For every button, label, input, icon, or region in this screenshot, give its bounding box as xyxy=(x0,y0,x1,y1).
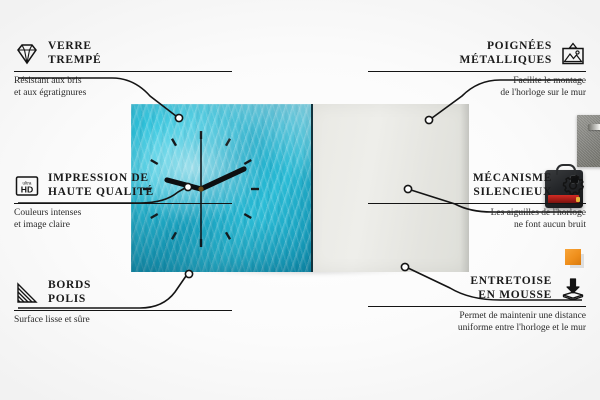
feature-desc-line1: Résistant aux bris xyxy=(14,76,232,88)
feature-desc-line2: de l'horloge sur le mur xyxy=(368,88,586,100)
picture-hanger-icon xyxy=(560,42,586,66)
feature-divider xyxy=(14,310,232,311)
feature-divider xyxy=(14,71,232,72)
feature-desc-line1: Les aiguilles de l'horloge xyxy=(368,208,586,220)
feature-divider xyxy=(368,71,586,72)
feature-header: ultra HD IMPRESSION DE HAUTE QUALITÉ xyxy=(14,172,232,199)
feature-header: ENTRETOISE EN MOUSSE xyxy=(368,275,586,302)
feature-divider xyxy=(368,203,586,204)
feature-header: MÉCANISME SILENCIEUX xyxy=(368,172,586,199)
feature-desc-line1: Couleurs intenses xyxy=(14,208,232,220)
feature-divider xyxy=(368,306,586,307)
wire-endpoint-bords xyxy=(185,270,192,277)
wire-endpoint-entretoise xyxy=(401,263,408,270)
feature-desc-line2: uniforme entre l'horloge et le mur xyxy=(368,323,586,335)
wire-endpoint-verre xyxy=(175,114,182,121)
feature-desc-line2: et aux égratignures xyxy=(14,88,232,100)
feature-entretoise-en-mousse: ENTRETOISE EN MOUSSE Permet de maintenir… xyxy=(368,275,586,334)
feature-divider xyxy=(14,203,232,204)
feature-title: IMPRESSION DE HAUTE QUALITÉ xyxy=(48,172,154,199)
feature-header: VERRE TREMPÉ xyxy=(14,40,232,67)
gear-icon xyxy=(560,174,586,198)
diamond-icon xyxy=(14,42,40,66)
polished-edge-icon xyxy=(14,281,40,305)
feature-desc-line2: ne font aucun bruit xyxy=(368,220,586,232)
feature-desc-line2: et image claire xyxy=(14,220,232,232)
feature-header: BORDS POLIS xyxy=(14,279,232,306)
feature-mecanisme-silencieux: MÉCANISME SILENCIEUX Les aiguilles de l'… xyxy=(368,172,586,231)
ultra-hd-icon: ultra HD xyxy=(14,174,40,198)
foam-spacer-icon xyxy=(560,277,586,301)
svg-text:HD: HD xyxy=(21,184,33,194)
feature-bords-polis: BORDS POLIS Surface lisse et sûre xyxy=(14,279,232,327)
feature-desc-line1: Permet de maintenir une distance xyxy=(368,311,586,323)
feature-title: ENTRETOISE EN MOUSSE xyxy=(470,275,552,302)
feature-title: BORDS POLIS xyxy=(48,279,91,306)
infographic-canvas: VERRE TREMPÉ Résistant aux bris et aux é… xyxy=(0,0,600,400)
wire-endpoint-poignees xyxy=(425,116,432,123)
feature-desc-line1: Facilite le montage xyxy=(368,76,586,88)
feature-title: POIGNÉES MÉTALLIQUES xyxy=(460,40,552,67)
feature-verre-trempe: VERRE TREMPÉ Résistant aux bris et aux é… xyxy=(14,40,232,99)
feature-header: POIGNÉES MÉTALLIQUES xyxy=(368,40,586,67)
feature-desc-line1: Surface lisse et sûre xyxy=(14,315,232,327)
feature-title: VERRE TREMPÉ xyxy=(48,40,101,67)
feature-title: MÉCANISME SILENCIEUX xyxy=(473,172,552,199)
feature-poignees-metalliques: POIGNÉES MÉTALLIQUES Facilite le montage… xyxy=(368,40,586,99)
feature-impression-haute-qualite: ultra HD IMPRESSION DE HAUTE QUALITÉ Cou… xyxy=(14,172,232,231)
